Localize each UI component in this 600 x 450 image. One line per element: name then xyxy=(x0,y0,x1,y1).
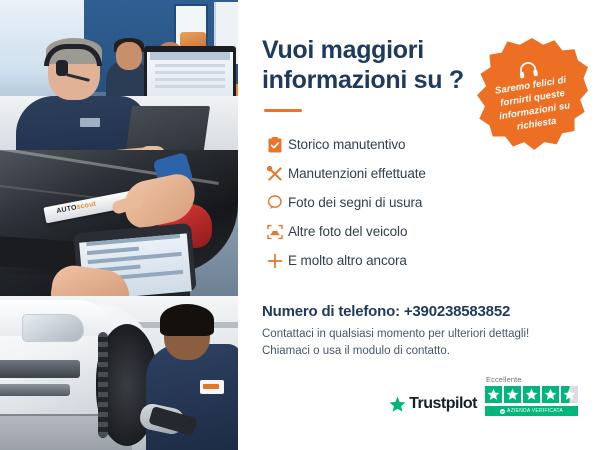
rating-star xyxy=(523,386,540,403)
photo-vehicle-inspection: AUTOscout xyxy=(0,150,238,296)
phone-number-link[interactable]: +390238583852 xyxy=(404,303,510,320)
callout-badge: Saremo felici di fornirti queste informa… xyxy=(476,38,588,150)
rating-star xyxy=(504,386,521,403)
screen-row xyxy=(155,71,225,74)
list-item-label: Foto dei segni di usura xyxy=(288,195,422,210)
promo-banner: AUTOscout xyxy=(0,0,600,450)
contact-description-line-2: Chiamaci o usa il modulo di contatto. xyxy=(262,343,574,360)
list-item: Foto dei segni di usura xyxy=(262,188,574,217)
tools-cross-icon xyxy=(262,166,288,182)
photo-mechanic-tyre xyxy=(0,296,238,450)
list-item: E molto altro ancora xyxy=(262,246,574,275)
trustpilot-rating: Eccellente AZIENDA VERIFICATA xyxy=(485,375,578,416)
contact-block: Numero di telefono: +390238583852 Contat… xyxy=(262,303,574,361)
contact-description: Contattaci in qualsiasi momento per ulte… xyxy=(262,326,574,361)
list-item: Altre foto del veicolo xyxy=(262,217,574,246)
car-grille-upper xyxy=(0,360,80,378)
star-glyph xyxy=(525,388,538,401)
car-grille-lower xyxy=(0,384,70,396)
car-headlight xyxy=(22,314,84,342)
page-title: Vuoi maggiori informazioni su ? xyxy=(262,36,472,95)
screen-row xyxy=(155,64,225,67)
trustpilot-logo[interactable]: Trustpilot xyxy=(389,395,477,416)
star-glyph xyxy=(506,388,519,401)
trustpilot-rating-label: Eccellente xyxy=(485,375,578,384)
content-panel: Vuoi maggiori informazioni su ? Saremo f… xyxy=(238,0,600,450)
speech-bubble-glyph xyxy=(267,195,283,210)
clipboard-check-glyph xyxy=(268,137,282,153)
car-frame-glyph xyxy=(267,224,283,240)
background-colleague-1-head xyxy=(116,42,142,70)
tyre-tread xyxy=(98,332,108,438)
trustpilot-star-row xyxy=(485,386,578,403)
verified-badge-text: AZIENDA VERIFICATA xyxy=(507,408,563,414)
list-item-label: Manutenzioni effettuate xyxy=(288,166,426,181)
ruler-brand-secondary: scout xyxy=(76,201,97,212)
trustpilot-wordmark: Trustpilot xyxy=(409,395,477,413)
ruler-brand-primary: AUTO xyxy=(56,204,77,215)
title-underline-rule xyxy=(264,109,302,112)
mechanic-shirt-badge xyxy=(200,380,224,394)
trustpilot-star-icon xyxy=(389,396,406,413)
tablet-row xyxy=(87,247,139,256)
contact-description-line-1: Contattaci in qualsiasi momento per ulte… xyxy=(262,326,574,343)
tablet-row xyxy=(86,234,180,246)
star-glyph xyxy=(487,388,500,401)
star-glyph xyxy=(563,388,576,401)
screen-row xyxy=(155,85,225,88)
speech-bubble-icon xyxy=(262,195,288,210)
list-item-label: E molto altro ancora xyxy=(288,253,407,268)
rating-star xyxy=(542,386,559,403)
feature-list: Storico manutentivo Manutenzioni effettu… xyxy=(262,130,574,275)
star-glyph xyxy=(544,388,557,401)
photo-strip: AUTOscout xyxy=(0,0,238,450)
phone-line: Numero di telefono: +390238583852 xyxy=(262,303,574,320)
car-frame-icon xyxy=(262,224,288,240)
screen-toolbar xyxy=(150,52,230,60)
tools-cross-glyph xyxy=(267,166,283,182)
plus-glyph xyxy=(267,253,283,269)
photo-call-center xyxy=(0,0,238,150)
screen-row xyxy=(155,78,225,81)
list-item: Manutenzioni effettuate xyxy=(262,159,574,188)
rating-star-half xyxy=(561,386,578,403)
trustpilot-widget[interactable]: Trustpilot Eccellente AZIENDA VERIFICA xyxy=(389,375,578,416)
badge-text: Saremo felici di fornirti queste informa… xyxy=(474,70,593,139)
badge-content: Saremo felici di fornirti queste informa… xyxy=(471,48,593,139)
agent-name-badge xyxy=(80,118,100,127)
list-item-label: Altre foto del veicolo xyxy=(288,224,407,239)
clipboard-check-icon xyxy=(262,137,288,153)
headset-icon xyxy=(517,60,539,79)
plus-icon xyxy=(262,253,288,269)
verified-check-icon xyxy=(500,409,505,414)
verified-business-badge: AZIENDA VERIFICATA xyxy=(485,406,578,416)
rating-star xyxy=(485,386,502,403)
mechanic-hair xyxy=(160,304,214,336)
phone-label: Numero di telefono: xyxy=(262,303,400,320)
laptop-screen xyxy=(124,106,210,150)
list-item-label: Storico manutentivo xyxy=(288,137,405,152)
